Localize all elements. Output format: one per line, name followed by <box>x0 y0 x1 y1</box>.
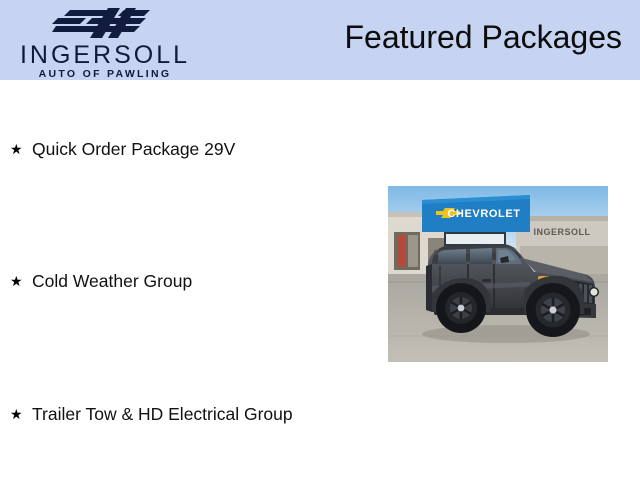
package-label: Cold Weather Group <box>32 270 192 292</box>
list-item: ★ Cold Weather Group <box>10 270 192 292</box>
brand-subtitle: AUTO OF PAWLING <box>0 68 210 80</box>
brand-logo: INGERSOLL AUTO OF PAWLING <box>0 2 210 80</box>
svg-text:CHEVROLET: CHEVROLET <box>447 208 520 220</box>
winged-speed-emblem-icon <box>46 6 162 40</box>
svg-text:INGERSOLL: INGERSOLL <box>533 227 590 237</box>
brand-wordmark: INGERSOLL <box>0 42 210 68</box>
list-item: ★ Quick Order Package 29V <box>10 138 235 160</box>
vehicle-photo: INGERSOLL CHEVROLET <box>388 186 608 362</box>
package-list: ★ Quick Order Package 29V ★ Cold Weather… <box>0 80 380 480</box>
header-band: INGERSOLL AUTO OF PAWLING Featured Packa… <box>0 0 640 80</box>
list-item: ★ Trailer Tow & HD Electrical Group <box>10 403 293 425</box>
package-label: Trailer Tow & HD Electrical Group <box>32 403 293 425</box>
star-bullet-icon: ★ <box>10 403 32 425</box>
star-bullet-icon: ★ <box>10 138 32 160</box>
package-label: Quick Order Package 29V <box>32 138 235 160</box>
page-title: Featured Packages <box>345 19 623 56</box>
star-bullet-icon: ★ <box>10 270 32 292</box>
